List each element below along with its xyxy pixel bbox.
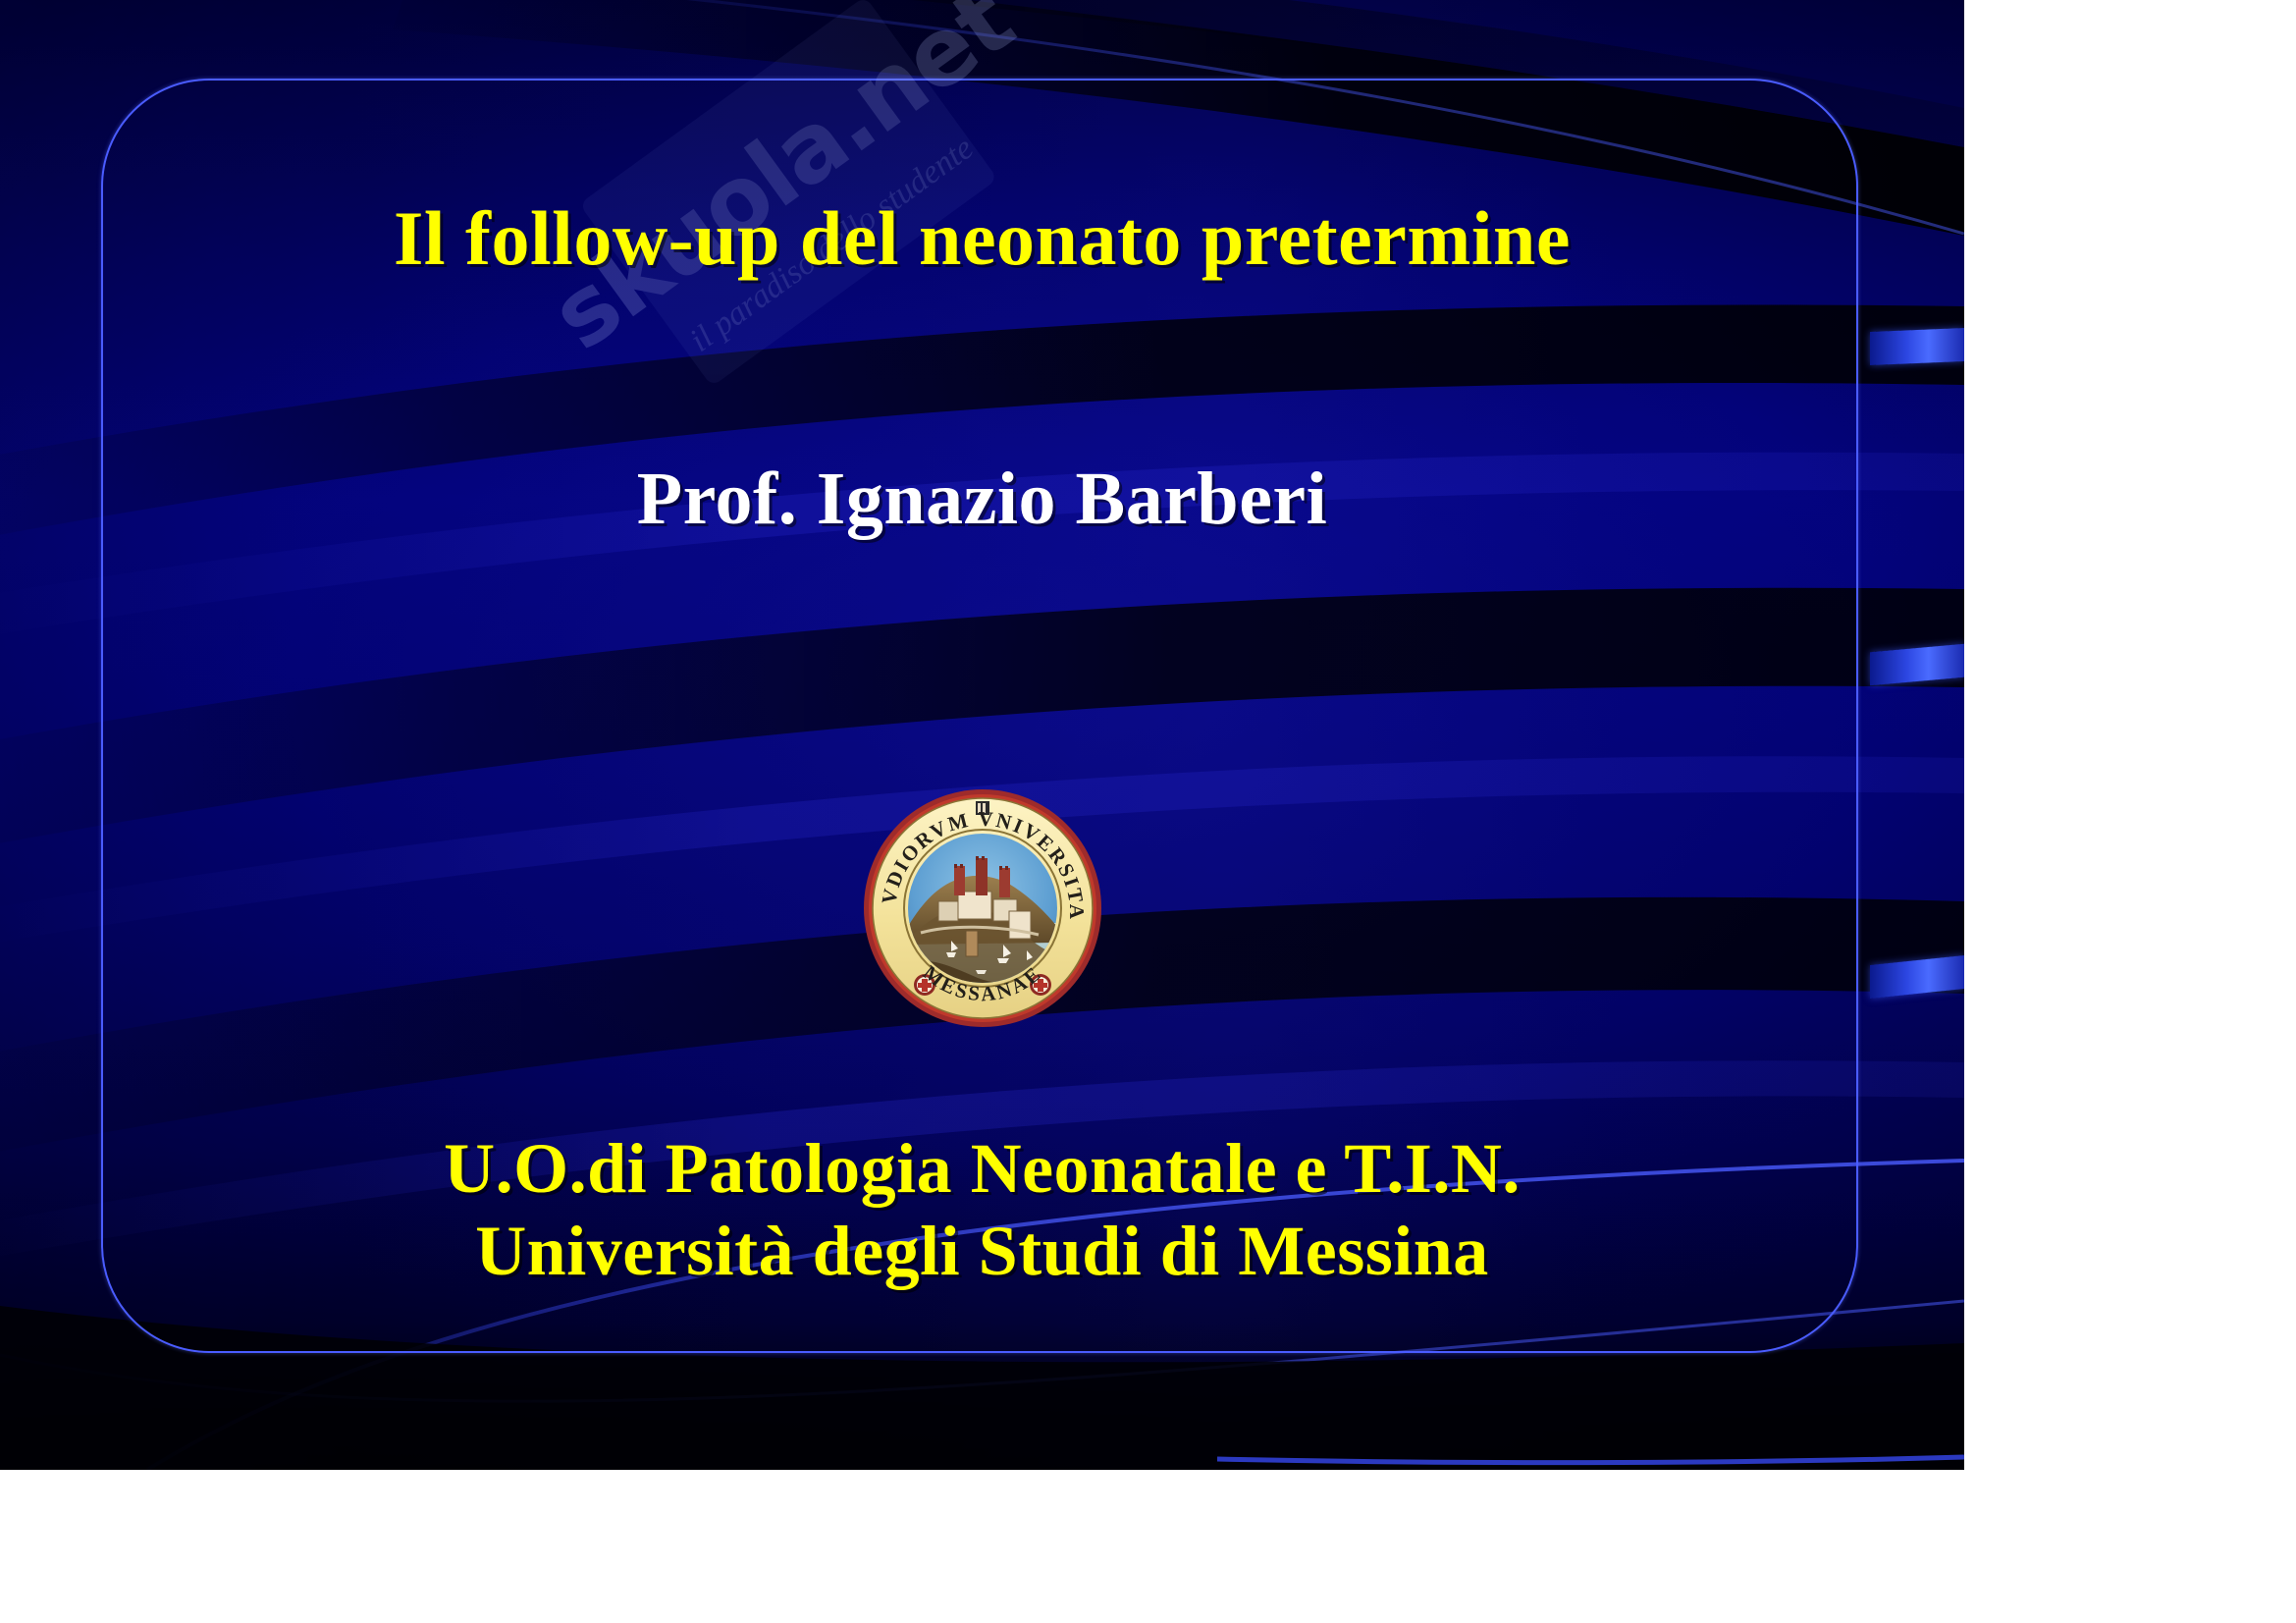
affiliation-line-2: Università degli Studi di Messina (0, 1210, 1964, 1292)
slide-title: Il follow-up del neonato pretermine (0, 200, 1964, 277)
university-seal: STVDIORVM VNIVERSITAS MESSANAE (860, 785, 1105, 1031)
affiliation-block: U.O.di Patologia Neonatale e T.I.N. Univ… (0, 1127, 1964, 1292)
slide-author: Prof. Ignazio Barberi (0, 461, 1964, 536)
affiliation-line-1: U.O.di Patologia Neonatale e T.I.N. (0, 1127, 1964, 1210)
presentation-slide: skuola.net il paradiso dello studente Il… (0, 0, 1964, 1470)
slide-content: Il follow-up del neonato pretermine Prof… (0, 0, 1964, 1470)
